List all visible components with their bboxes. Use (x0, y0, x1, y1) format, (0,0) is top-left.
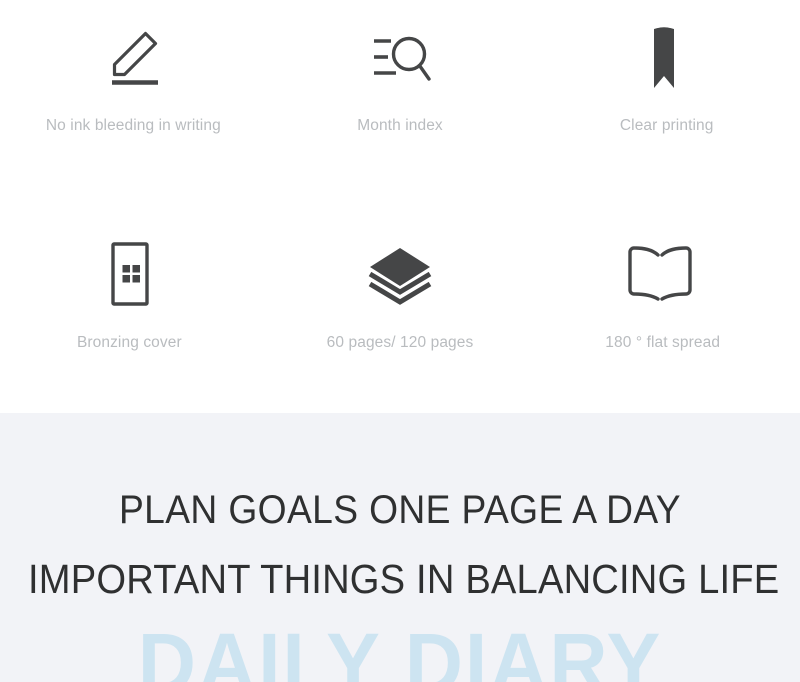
bookmark-icon (634, 22, 694, 94)
product-feature-page: No ink bleeding in writing Month index (0, 0, 800, 682)
feature-row-2: Bronzing cover 60 pages/ 120 pages (0, 238, 800, 353)
feature-label: Bronzing cover (77, 333, 182, 353)
headline-line-2: IMPORTANT THINGS IN BALANCING LIFE (28, 556, 772, 602)
feature-label: Month index (357, 116, 443, 136)
feature-label: Clear printing (620, 116, 714, 136)
headline-banner: PLAN GOALS ONE PAGE A DAY IMPORTANT THIN… (0, 413, 800, 682)
search-list-icon (364, 22, 438, 94)
feature-label: 60 pages/ 120 pages (327, 333, 474, 353)
layers-stack-icon (360, 238, 440, 310)
feature-item-no-ink-bleeding: No ink bleeding in writing (0, 22, 267, 136)
watermark-daily-diary: DAILY DIARY (16, 620, 784, 682)
feature-item-bronzing-cover: Bronzing cover (0, 238, 267, 353)
features-section: No ink bleeding in writing Month index (0, 0, 800, 413)
open-book-icon (618, 238, 702, 310)
feature-item-clear-printing: Clear printing (533, 22, 800, 136)
feature-label: 180 ° flat spread (605, 333, 720, 353)
headline-line-1: PLAN GOALS ONE PAGE A DAY (28, 487, 772, 533)
feature-item-page-count: 60 pages/ 120 pages (267, 238, 534, 353)
feature-item-month-index: Month index (267, 22, 534, 136)
book-cover-grid-icon (99, 238, 161, 310)
feature-item-flat-spread: 180 ° flat spread (533, 238, 800, 353)
feature-label: No ink bleeding in writing (46, 116, 221, 136)
feature-row-1: No ink bleeding in writing Month index (0, 22, 800, 136)
pencil-underline-icon (98, 22, 170, 94)
